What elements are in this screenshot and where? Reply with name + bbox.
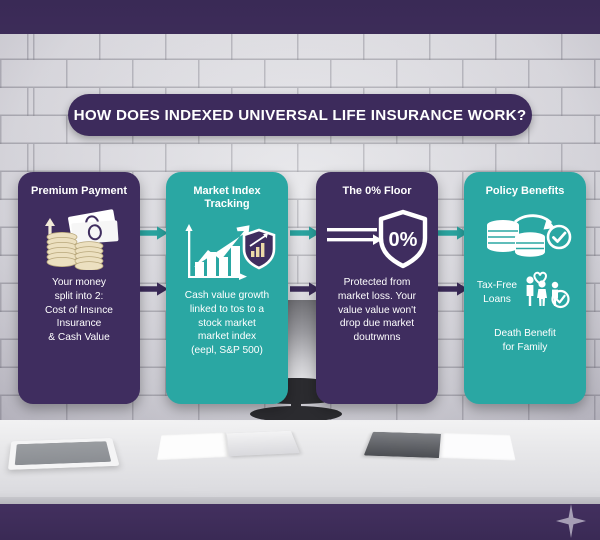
book-page-right — [227, 431, 300, 456]
card-title: Premium Payment — [25, 185, 133, 198]
tablet-device — [8, 438, 120, 470]
book-page-right — [439, 433, 516, 461]
step-card-market-index-tracking[interactable]: Market Index Tracking — [166, 172, 288, 404]
book-page-left — [157, 432, 228, 460]
card-title: Market Index Tracking — [166, 185, 288, 211]
bar-chart-growth-shield-icon — [177, 215, 277, 289]
family-heart-check-icon — [521, 270, 573, 315]
tablet-screen — [15, 441, 111, 465]
card-title: Policy Benefits — [480, 185, 571, 198]
step-card-zero-percent-floor[interactable]: The 0% Floor 0% Protected from market lo… — [316, 172, 438, 404]
connector-arrow-purple-1 — [138, 282, 168, 296]
connector-arrow-teal-1 — [138, 226, 168, 240]
shield-zero-percent-label: 0% — [389, 229, 418, 251]
background-top-band — [0, 0, 600, 36]
shield-zero-percent-icon: 0% — [325, 202, 429, 276]
card-body-text: Protected from market loss. Your value v… — [330, 276, 424, 344]
card-body-text: Cash value growth linked to tos to a sto… — [177, 289, 277, 357]
floor-band — [0, 504, 600, 540]
benefit-row-tax-free-loans: Tax-Free Loans — [464, 270, 586, 315]
benefit-label-death-benefit: Death Benefit for Family — [494, 327, 556, 354]
page-title: HOW DOES INDEXED UNIVERSAL LIFE INSURANC… — [74, 107, 527, 124]
step-card-premium-payment[interactable]: Premium Payment — [18, 172, 140, 404]
coins-check-icon — [477, 204, 573, 268]
benefit-label-tax-free-loans: Tax-Free Loans — [477, 279, 517, 306]
card-body-text: Your money split into 2: Cost of Insınce… — [37, 276, 121, 344]
book-page-left — [364, 432, 441, 458]
open-book-right — [364, 431, 516, 462]
infographic-canvas: HOW DOES INDEXED UNIVERSAL LIFE INSURANC… — [0, 0, 600, 540]
page-title-banner: HOW DOES INDEXED UNIVERSAL LIFE INSURANC… — [68, 94, 532, 136]
step-card-policy-benefits[interactable]: Policy Benefits — [464, 172, 586, 404]
card-title: The 0% Floor — [336, 185, 417, 198]
coins-and-banknotes-icon — [36, 202, 122, 276]
